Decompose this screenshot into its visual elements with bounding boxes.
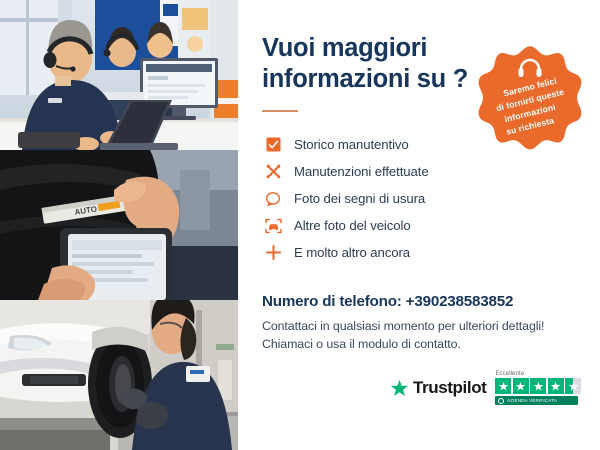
trustpilot-star-icon <box>390 379 409 398</box>
feature-label: Storico manutentivo <box>294 137 409 152</box>
photo-mechanic-wheel <box>0 300 238 450</box>
verified-label: AZIENDA VERIFICATA <box>507 398 557 403</box>
star-4 <box>548 378 564 394</box>
headline-divider <box>262 110 298 112</box>
trustpilot-rating-label: Eccellente <box>495 371 524 377</box>
photo-call-center <box>0 0 238 150</box>
checkbox-checked-icon <box>262 134 284 156</box>
trustpilot-brand-name: Trustpilot <box>413 378 486 398</box>
star-2 <box>513 378 529 394</box>
feature-item-molto-altro: E molto altro ancora <box>262 239 562 266</box>
contact-line-1: Contattaci in qualsiasi momento per ulte… <box>262 318 582 336</box>
feature-label: Altre foto del veicolo <box>294 218 411 233</box>
phone-number-line[interactable]: Numero di telefono: +390238583852 <box>262 293 513 310</box>
phone-number-text: Numero di telefono: +390238583852 <box>262 293 513 310</box>
speech-bubble-icon <box>262 188 284 210</box>
headline-line-1: Vuoi maggiori <box>262 33 477 64</box>
star-5-half <box>565 378 581 394</box>
photo-paint-inspection: AUTO <box>0 150 238 300</box>
content-panel: Vuoi maggiori informazioni su ? Saremo f… <box>238 0 600 450</box>
plus-icon <box>262 242 284 264</box>
car-scan-frame-icon <box>262 215 284 237</box>
feature-item-foto-segni-usura: Foto dei segni di usura <box>262 185 562 212</box>
photo-column: AUTO <box>0 0 238 450</box>
feature-list: Storico manutentivo Manutenzi <box>262 131 562 266</box>
headline-line-2: informazioni su ? <box>262 64 477 95</box>
feature-label: E molto altro ancora <box>294 245 410 260</box>
feature-item-storico-manutentivo: Storico manutentivo <box>262 131 562 158</box>
page-title: Vuoi maggiori informazioni su ? <box>262 33 477 94</box>
star-1 <box>495 378 511 394</box>
contact-information-banner: AUTO <box>0 0 600 450</box>
verified-company-badge: AZIENDA VERIFICATA <box>495 396 578 405</box>
contact-instructions: Contattaci in qualsiasi momento per ulte… <box>262 318 582 354</box>
feature-item-altre-foto-veicolo: Altre foto del veicolo <box>262 212 562 239</box>
feature-label: Manutenzioni effettuate <box>294 164 429 179</box>
trustpilot-rating: Eccellente <box>495 371 583 405</box>
feature-item-manutenzioni-effettuate: Manutenzioni effettuate <box>262 158 562 185</box>
trustpilot-widget[interactable]: Trustpilot Eccellente <box>390 371 583 405</box>
trustpilot-stars <box>495 378 583 394</box>
tools-cross-icon <box>262 161 284 183</box>
verified-check-icon <box>498 398 504 404</box>
contact-line-2: Chiamaci o usa il modulo di contatto. <box>262 336 582 354</box>
star-3 <box>530 378 546 394</box>
feature-label: Foto dei segni di usura <box>294 191 425 206</box>
